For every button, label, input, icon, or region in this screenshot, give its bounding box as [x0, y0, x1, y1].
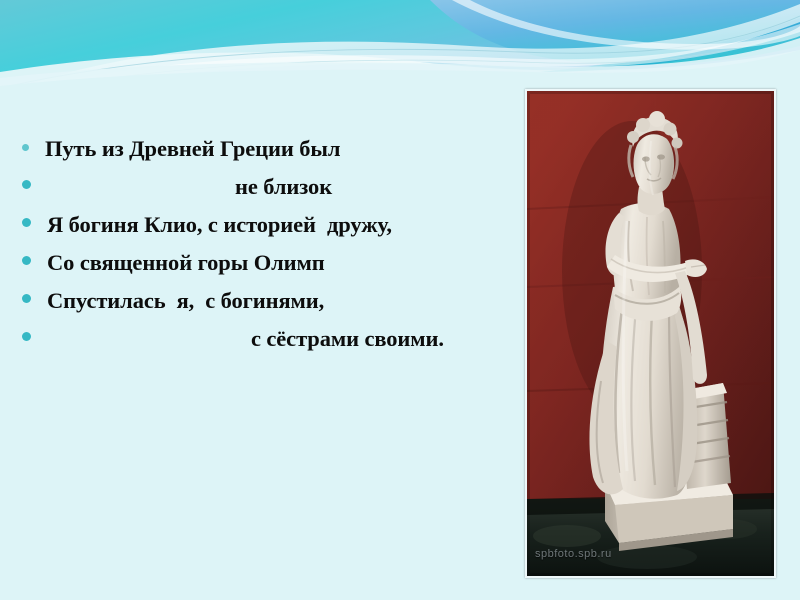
presentation-slide: Путь из Древней Греции был не близок Я б… — [0, 0, 800, 600]
list-item: Спустилась я, с богинями, — [22, 286, 522, 324]
bullet-dot-icon — [22, 256, 31, 265]
bullet-dot-icon — [22, 144, 29, 151]
bullet-dot-icon — [22, 294, 31, 303]
bullet-text: Путь из Древней Греции был — [45, 134, 522, 164]
wave-banner-decoration — [0, 0, 800, 95]
bullet-text: Спустилась я, с богинями, — [47, 286, 522, 316]
bullet-text: Я богиня Клио, с историей дружу, — [47, 210, 522, 240]
list-item: Со священной горы Олимп — [22, 248, 522, 286]
bullet-text: не близок — [47, 172, 522, 202]
bullet-dot-icon — [22, 218, 31, 227]
bullet-text: Со священной горы Олимп — [47, 248, 522, 278]
list-item: не близок — [22, 172, 522, 210]
bullet-text: с сёстрами своими. — [47, 324, 522, 354]
bullet-dot-icon — [22, 180, 31, 189]
bullet-list: Путь из Древней Греции был не близок Я б… — [22, 134, 522, 362]
list-item: Я богиня Клио, с историей дружу, — [22, 210, 522, 248]
statue-photo: spbfoto.spb.ru — [525, 89, 776, 578]
list-item: с сёстрами своими. — [22, 324, 522, 362]
list-item: Путь из Древней Греции был — [22, 134, 522, 172]
bullet-dot-icon — [22, 332, 31, 341]
